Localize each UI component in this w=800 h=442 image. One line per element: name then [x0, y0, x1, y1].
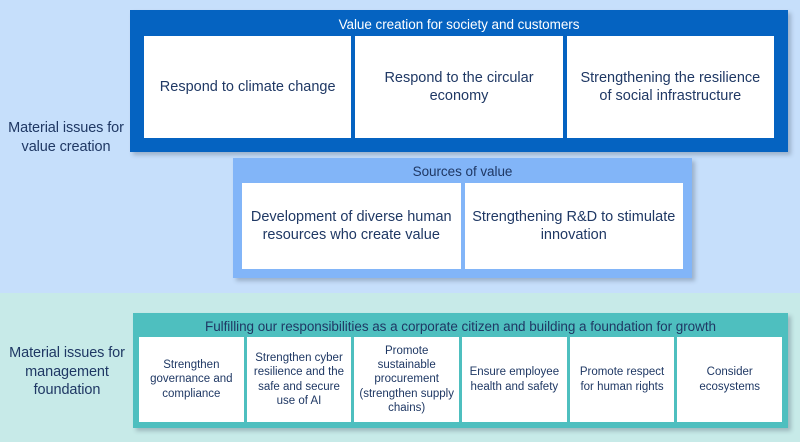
sources-of-value-card[interactable]: Development of diverse human resources w…: [242, 183, 461, 269]
management-foundation-card[interactable]: Promote respect for human rights: [570, 337, 675, 422]
management-foundation-card[interactable]: Consider ecosystems: [677, 337, 782, 422]
management-foundation-section-label: Material issues for management foundatio…: [2, 341, 132, 403]
materiality-diagram: Material issues for value creation Mater…: [0, 0, 800, 442]
value-creation-group: Value creation for society and customers…: [130, 10, 788, 152]
management-foundation-card[interactable]: Ensure employee health and safety: [462, 337, 567, 422]
value-creation-group-title: Value creation for society and customers: [130, 18, 788, 32]
sources-of-value-card[interactable]: Strengthening R&D to stimulate innovatio…: [465, 183, 684, 269]
sources-of-value-card-list: Development of diverse human resources w…: [242, 183, 683, 269]
value-creation-section-label: Material issues for value creation: [2, 108, 130, 168]
value-creation-card[interactable]: Respond to the circular economy: [355, 36, 562, 138]
value-creation-card-list: Respond to climate change Respond to the…: [144, 36, 774, 138]
value-creation-card[interactable]: Respond to climate change: [144, 36, 351, 138]
management-foundation-card[interactable]: Strengthen cyber resilience and the safe…: [247, 337, 352, 422]
value-creation-card[interactable]: Strengthening the resilience of social i…: [567, 36, 774, 138]
sources-of-value-group: Sources of value Development of diverse …: [233, 158, 692, 278]
management-foundation-card-list: Strengthen governance and compliance Str…: [139, 337, 782, 422]
management-foundation-group-title: Fulfilling our responsibilities as a cor…: [133, 320, 788, 334]
management-foundation-card[interactable]: Strengthen governance and compliance: [139, 337, 244, 422]
management-foundation-card[interactable]: Promote sustainable procurement (strengt…: [354, 337, 459, 422]
sources-of-value-group-title: Sources of value: [233, 165, 692, 179]
management-foundation-group: Fulfilling our responsibilities as a cor…: [133, 313, 788, 428]
